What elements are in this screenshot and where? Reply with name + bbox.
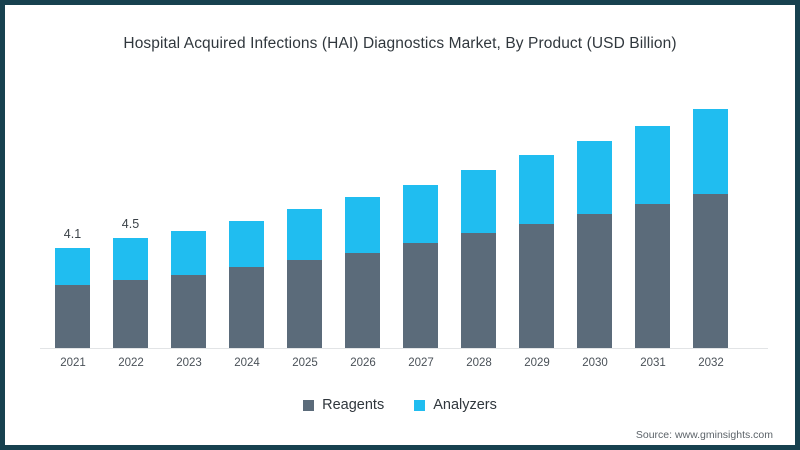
bar-stack-2028 <box>461 170 496 348</box>
bar-value-label-2021: 4.1 <box>64 227 81 241</box>
legend-item-analyzers[interactable]: Analyzers <box>414 397 497 413</box>
legend-swatch-analyzers <box>414 400 425 411</box>
bar-segment-reagents <box>229 267 264 348</box>
bar-stack-2024 <box>229 221 264 348</box>
legend-label-reagents: Reagents <box>322 397 384 413</box>
x-tick-label-2031: 2031 <box>624 357 682 369</box>
x-tick-label-2029: 2029 <box>508 357 566 369</box>
plot-area: 4.14.5 <box>40 90 765 348</box>
x-tick-label-2024: 2024 <box>218 357 276 369</box>
bar-stack-2029 <box>519 155 554 348</box>
bar-segment-reagents <box>519 224 554 348</box>
bar-segment-analyzers <box>519 155 554 223</box>
x-tick-label-2022: 2022 <box>102 357 160 369</box>
bar-segment-analyzers <box>171 231 206 275</box>
legend-label-analyzers: Analyzers <box>433 397 497 413</box>
bar-segment-analyzers <box>693 109 728 194</box>
bar-stack-2022: 4.5 <box>113 238 148 348</box>
page-title: Hospital Acquired Infections (HAI) Diagn… <box>5 35 795 53</box>
bar-segment-analyzers <box>345 197 380 253</box>
legend-swatch-reagents <box>303 400 314 411</box>
bar-segment-reagents <box>113 280 148 348</box>
bar-segment-analyzers <box>287 209 322 260</box>
bar-stack-2032 <box>693 109 728 348</box>
bar-segment-analyzers <box>461 170 496 233</box>
x-tick-label-2023: 2023 <box>160 357 218 369</box>
x-axis-tick-labels: 2021202220232024202520262027202820292030… <box>40 357 765 377</box>
bar-stack-2031 <box>635 126 670 348</box>
bar-stack-2021: 4.1 <box>55 248 90 348</box>
bar-segment-reagents <box>693 194 728 348</box>
chart-figure: Hospital Acquired Infections (HAI) Diagn… <box>0 0 800 450</box>
x-axis-baseline <box>40 348 768 349</box>
bar-segment-analyzers <box>55 248 90 285</box>
bar-value-label-2022: 4.5 <box>122 217 139 231</box>
x-tick-label-2032: 2032 <box>682 357 740 369</box>
bar-segment-reagents <box>577 214 612 348</box>
chart-canvas: Hospital Acquired Infections (HAI) Diagn… <box>5 5 795 445</box>
legend-item-reagents[interactable]: Reagents <box>303 397 384 413</box>
bar-segment-analyzers <box>113 238 148 279</box>
bar-segment-analyzers <box>635 126 670 204</box>
bar-stack-2030 <box>577 141 612 348</box>
bar-segment-reagents <box>345 253 380 348</box>
bar-segment-reagents <box>287 260 322 348</box>
bar-segment-reagents <box>635 204 670 348</box>
source-attribution: Source: www.gminsights.com <box>636 429 773 441</box>
bar-stack-2027 <box>403 185 438 348</box>
x-tick-label-2021: 2021 <box>44 357 102 369</box>
x-tick-label-2028: 2028 <box>450 357 508 369</box>
x-tick-label-2026: 2026 <box>334 357 392 369</box>
bar-segment-reagents <box>171 275 206 348</box>
bar-segment-analyzers <box>577 141 612 214</box>
bar-segment-analyzers <box>229 221 264 267</box>
bar-segment-reagents <box>461 233 496 348</box>
bar-stack-2025 <box>287 209 322 348</box>
bar-segment-reagents <box>55 285 90 348</box>
x-tick-label-2025: 2025 <box>276 357 334 369</box>
bar-segment-reagents <box>403 243 438 348</box>
chart-legend: ReagentsAnalyzers <box>5 397 795 413</box>
bar-stack-2026 <box>345 197 380 348</box>
x-tick-label-2027: 2027 <box>392 357 450 369</box>
bar-stack-2023 <box>171 231 206 348</box>
bar-segment-analyzers <box>403 185 438 244</box>
x-tick-label-2030: 2030 <box>566 357 624 369</box>
